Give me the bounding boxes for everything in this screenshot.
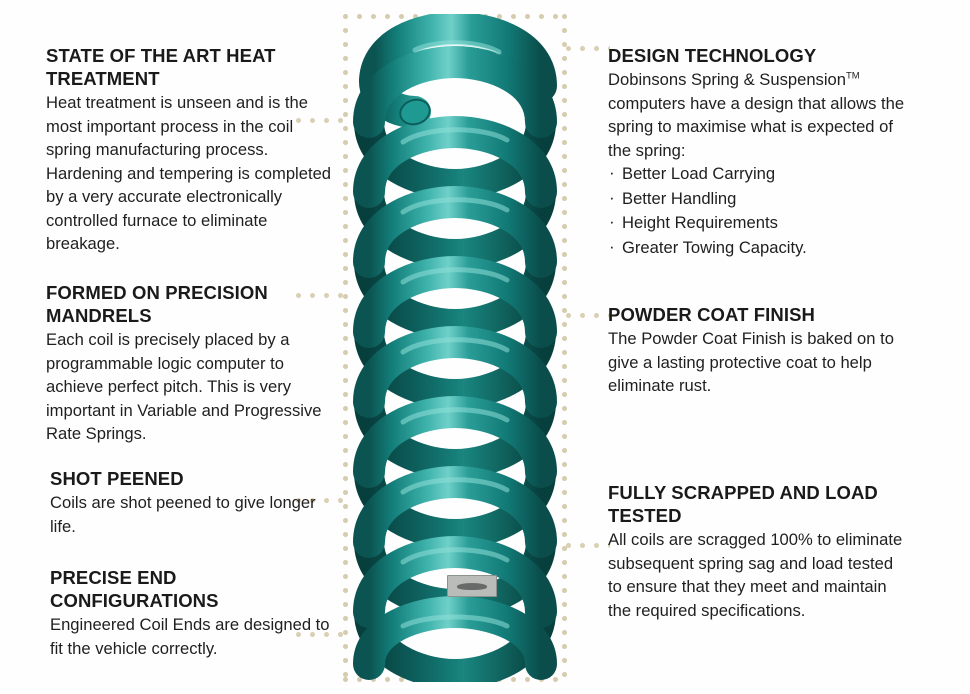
list-item: Height Requirements [608,211,908,236]
heading-precise-end-configurations: PRECISE END CONFIGURATIONS [50,566,334,612]
heading-state-of-the-art-heat-treatment: STATE OF THE ART HEAT TREATMENT [46,44,332,90]
block-fully-scrapped-and-load-tested: FULLY SCRAPPED AND LOAD TESTED All coils… [608,481,906,622]
list-item: Better Handling [608,187,908,212]
leader-powder-coat-finish [566,313,610,318]
block-design-technology: DESIGN TECHNOLOGY Dobinsons Spring & Sus… [608,44,908,260]
list-item: Better Load Carrying [608,162,908,187]
heading-design-technology: DESIGN TECHNOLOGY [608,44,908,67]
body-state-of-the-art-heat-treatment: Heat treatment is unseen and is the most… [46,91,332,256]
block-formed-on-precision-mandrels: FORMED ON PRECISION MANDRELS Each coil i… [46,281,324,446]
heading-fully-scrapped-and-load-tested: FULLY SCRAPPED AND LOAD TESTED [608,481,906,527]
block-powder-coat-finish: POWDER COAT FINISH The Powder Coat Finis… [608,303,908,398]
spring-sticker [447,575,497,597]
heading-powder-coat-finish: POWDER COAT FINISH [608,303,908,326]
body-shot-peened: Coils are shot peened to give longer lif… [50,491,322,538]
trademark-symbol: TM [846,70,860,81]
heading-shot-peened: SHOT PEENED [50,467,322,490]
body-formed-on-precision-mandrels: Each coil is precisely placed by a progr… [46,328,324,446]
body-powder-coat-finish: The Powder Coat Finish is baked on to gi… [608,327,908,398]
body-design-technology-prefix: Dobinsons Spring & Suspension [608,70,846,89]
body-design-technology: Dobinsons Spring & SuspensionTM computer… [608,68,908,162]
leader-design-technology [566,46,610,51]
sticker-mark [457,583,487,590]
infographic-page: STATE OF THE ART HEAT TREATMENT Heat tre… [0,0,970,694]
right-column: DESIGN TECHNOLOGY Dobinsons Spring & Sus… [608,0,910,694]
left-column: STATE OF THE ART HEAT TREATMENT Heat tre… [46,0,336,694]
heading-formed-on-precision-mandrels: FORMED ON PRECISION MANDRELS [46,281,324,327]
block-shot-peened: SHOT PEENED Coils are shot peened to giv… [50,467,322,538]
coil-front-turns [369,28,541,664]
body-fully-scrapped-and-load-tested: All coils are scragged 100% to eliminate… [608,528,906,622]
body-design-technology-suffix: computers have a design that allows the … [608,94,904,160]
body-precise-end-configurations: Engineered Coil Ends are designed to fit… [50,613,334,660]
design-technology-benefits-list: Better Load Carrying Better Handling Hei… [608,162,908,260]
block-precise-end-configurations: PRECISE END CONFIGURATIONS Engineered Co… [50,566,334,660]
leader-fully-scrapped-load-tested [566,543,610,548]
block-state-of-the-art-heat-treatment: STATE OF THE ART HEAT TREATMENT Heat tre… [46,44,332,256]
list-item: Greater Towing Capacity. [608,236,908,261]
